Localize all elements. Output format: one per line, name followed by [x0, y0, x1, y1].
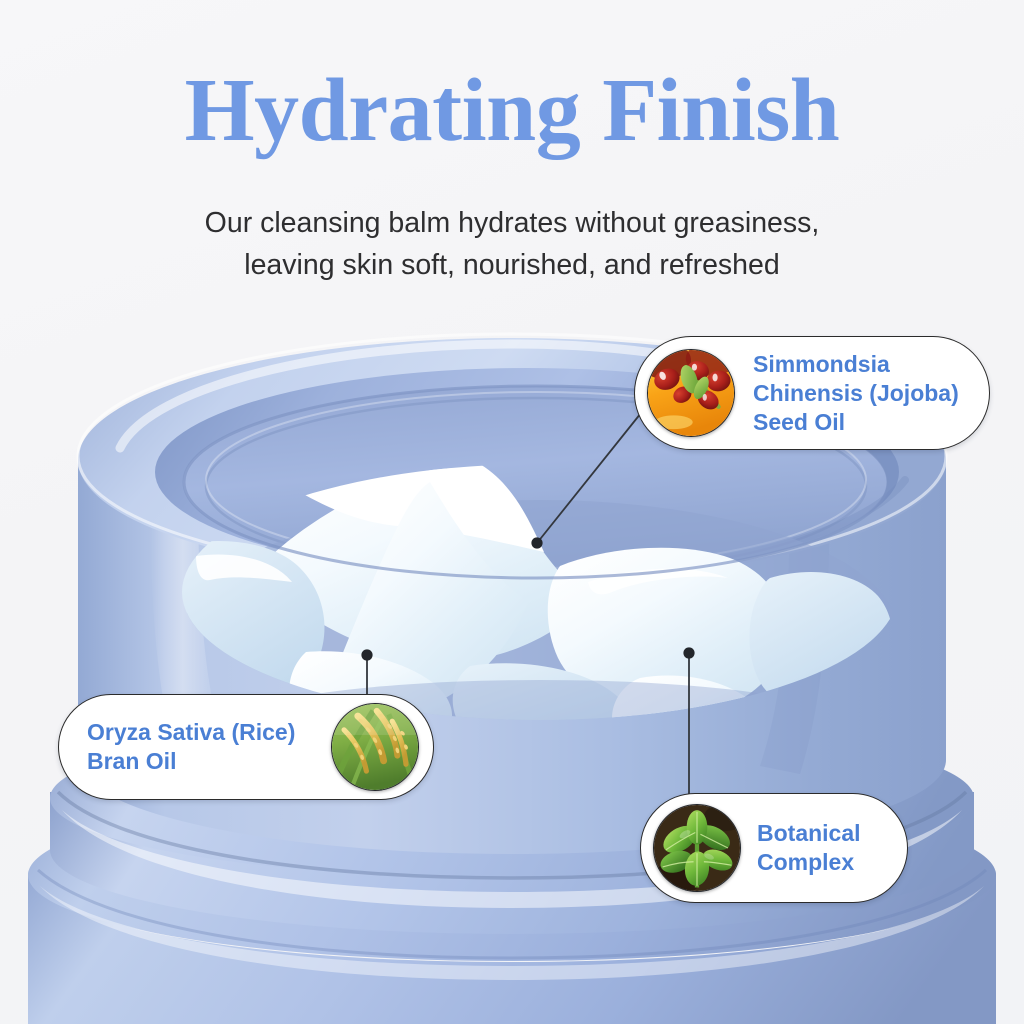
- page-title: Hydrating Finish: [0, 64, 1024, 159]
- callout-badge-rice[interactable]: Oryza Sativa (Rice) Bran Oil: [58, 694, 434, 800]
- jojoba-berries-icon: [647, 349, 735, 437]
- callout-badge-botanical[interactable]: Botanical Complex: [640, 793, 908, 903]
- subtitle-line-2: leaving skin soft, nourished, and refres…: [0, 244, 1024, 286]
- callout-label-jojoba: Simmondsia Chinensis (Jojoba) Seed Oil: [753, 350, 959, 437]
- subtitle: Our cleansing balm hydrates without grea…: [0, 202, 1024, 286]
- callout-label-botanical: Botanical Complex: [757, 819, 861, 877]
- callout-badge-jojoba[interactable]: Simmondsia Chinensis (Jojoba) Seed Oil: [634, 336, 990, 450]
- subtitle-line-1: Our cleansing balm hydrates without grea…: [0, 202, 1024, 244]
- infographic-canvas: Hydrating Finish Our cleansing balm hydr…: [0, 0, 1024, 1024]
- rice-stalks-icon: [331, 703, 419, 791]
- callout-label-rice: Oryza Sativa (Rice) Bran Oil: [87, 718, 295, 776]
- mint-leaves-icon: [653, 804, 741, 892]
